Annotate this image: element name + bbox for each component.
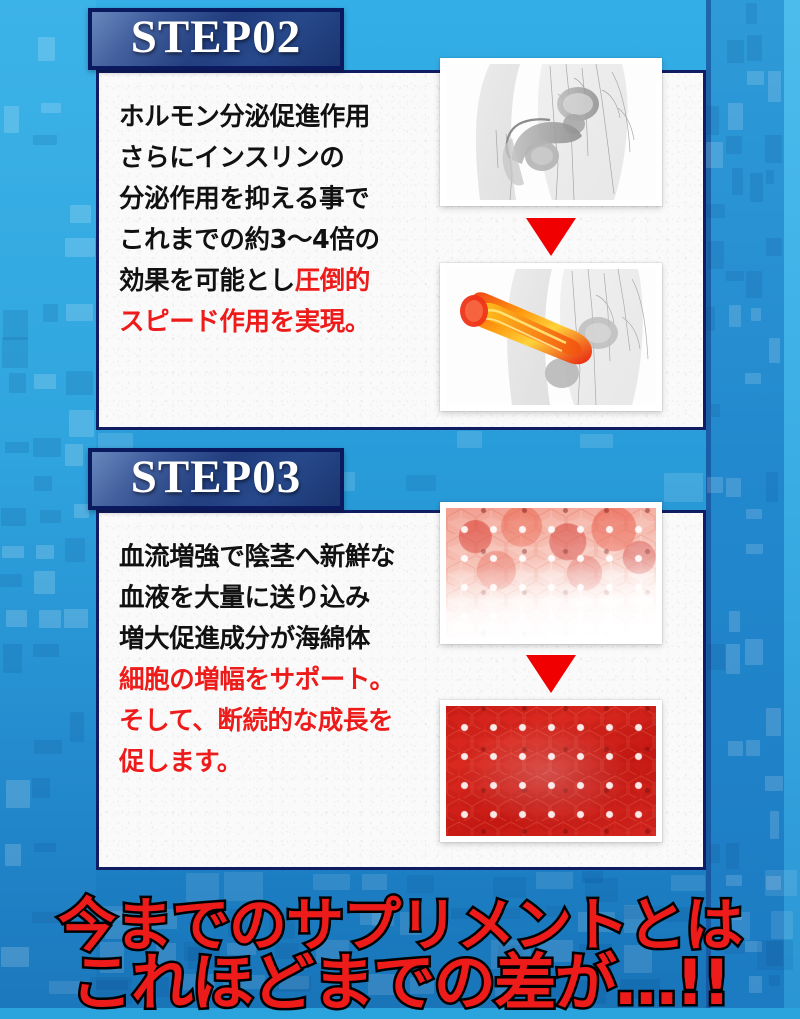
anatomy-image-normal-inner — [446, 64, 656, 200]
step-02-line-6: スピード作用を実現。 — [119, 302, 380, 343]
cells-image-sparse-inner — [446, 508, 656, 638]
step-badge-03-label: STEP03 — [131, 454, 302, 504]
step-03-line-5: そして、断続的な成長を — [119, 701, 395, 742]
step-03-line-2: 血液を大量に送り込み — [119, 578, 395, 619]
step-02-line-2: さらにインスリンの — [119, 138, 380, 179]
cells-glow-dense — [446, 706, 656, 836]
step-02-line-5-black: 効果を可能とし — [119, 266, 295, 296]
bottom-headline: 今までのサプリメントとは これほどまでの差が…!! — [0, 896, 800, 1012]
step-02-body-text: ホルモン分泌促進作用 さらにインスリンの 分泌作用を抑える事で これまでの約3〜… — [119, 97, 380, 343]
step-02-line-5: 効果を可能とし圧倒的 — [119, 261, 380, 302]
step-02-line-1: ホルモン分泌促進作用 — [119, 97, 380, 138]
step-02-line-5-red: 圧倒的 — [295, 266, 370, 296]
step-badge-02: STEP02 — [88, 8, 344, 70]
cells-image-sparse — [440, 502, 662, 644]
cells-artwork-sparse — [446, 508, 656, 638]
step-badge-02-label: STEP02 — [131, 14, 302, 64]
cells-image-dense-inner — [446, 706, 656, 836]
step-03-down-arrow-icon — [526, 655, 576, 693]
anatomy-artwork-normal — [446, 64, 656, 200]
step-03-line-3: 増大促進成分が海綿体 — [119, 619, 395, 660]
cells-artwork-dense — [446, 706, 656, 836]
step-03-line-4: 細胞の増幅をサポート。 — [119, 660, 395, 701]
step-03-body-text: 血流増強で陰茎へ新鮮な 血液を大量に送り込み 増大促進成分が海綿体 細胞の増幅を… — [119, 537, 395, 783]
step-02-down-arrow-icon — [526, 218, 576, 256]
step-badge-03: STEP03 — [88, 448, 344, 510]
step-02-line-3: 分泌作用を抑える事で — [119, 179, 380, 220]
anatomy-image-normal — [440, 58, 662, 206]
anatomy-image-highlighted-inner — [446, 269, 656, 405]
cells-image-dense — [440, 700, 662, 842]
step-03-line-1: 血流増強で陰茎へ新鮮な — [119, 537, 395, 578]
step-03-line-6: 促します。 — [119, 742, 395, 783]
headline-line-2: これほどまでの差が…!! — [0, 954, 800, 1012]
background-far-edge-strip — [784, 0, 800, 1008]
anatomy-artwork-highlighted — [446, 269, 656, 405]
anatomy-image-highlighted — [440, 263, 662, 411]
cells-fade-sparse — [446, 508, 656, 638]
step-02-line-4: これまでの約3〜4倍の — [119, 220, 380, 261]
